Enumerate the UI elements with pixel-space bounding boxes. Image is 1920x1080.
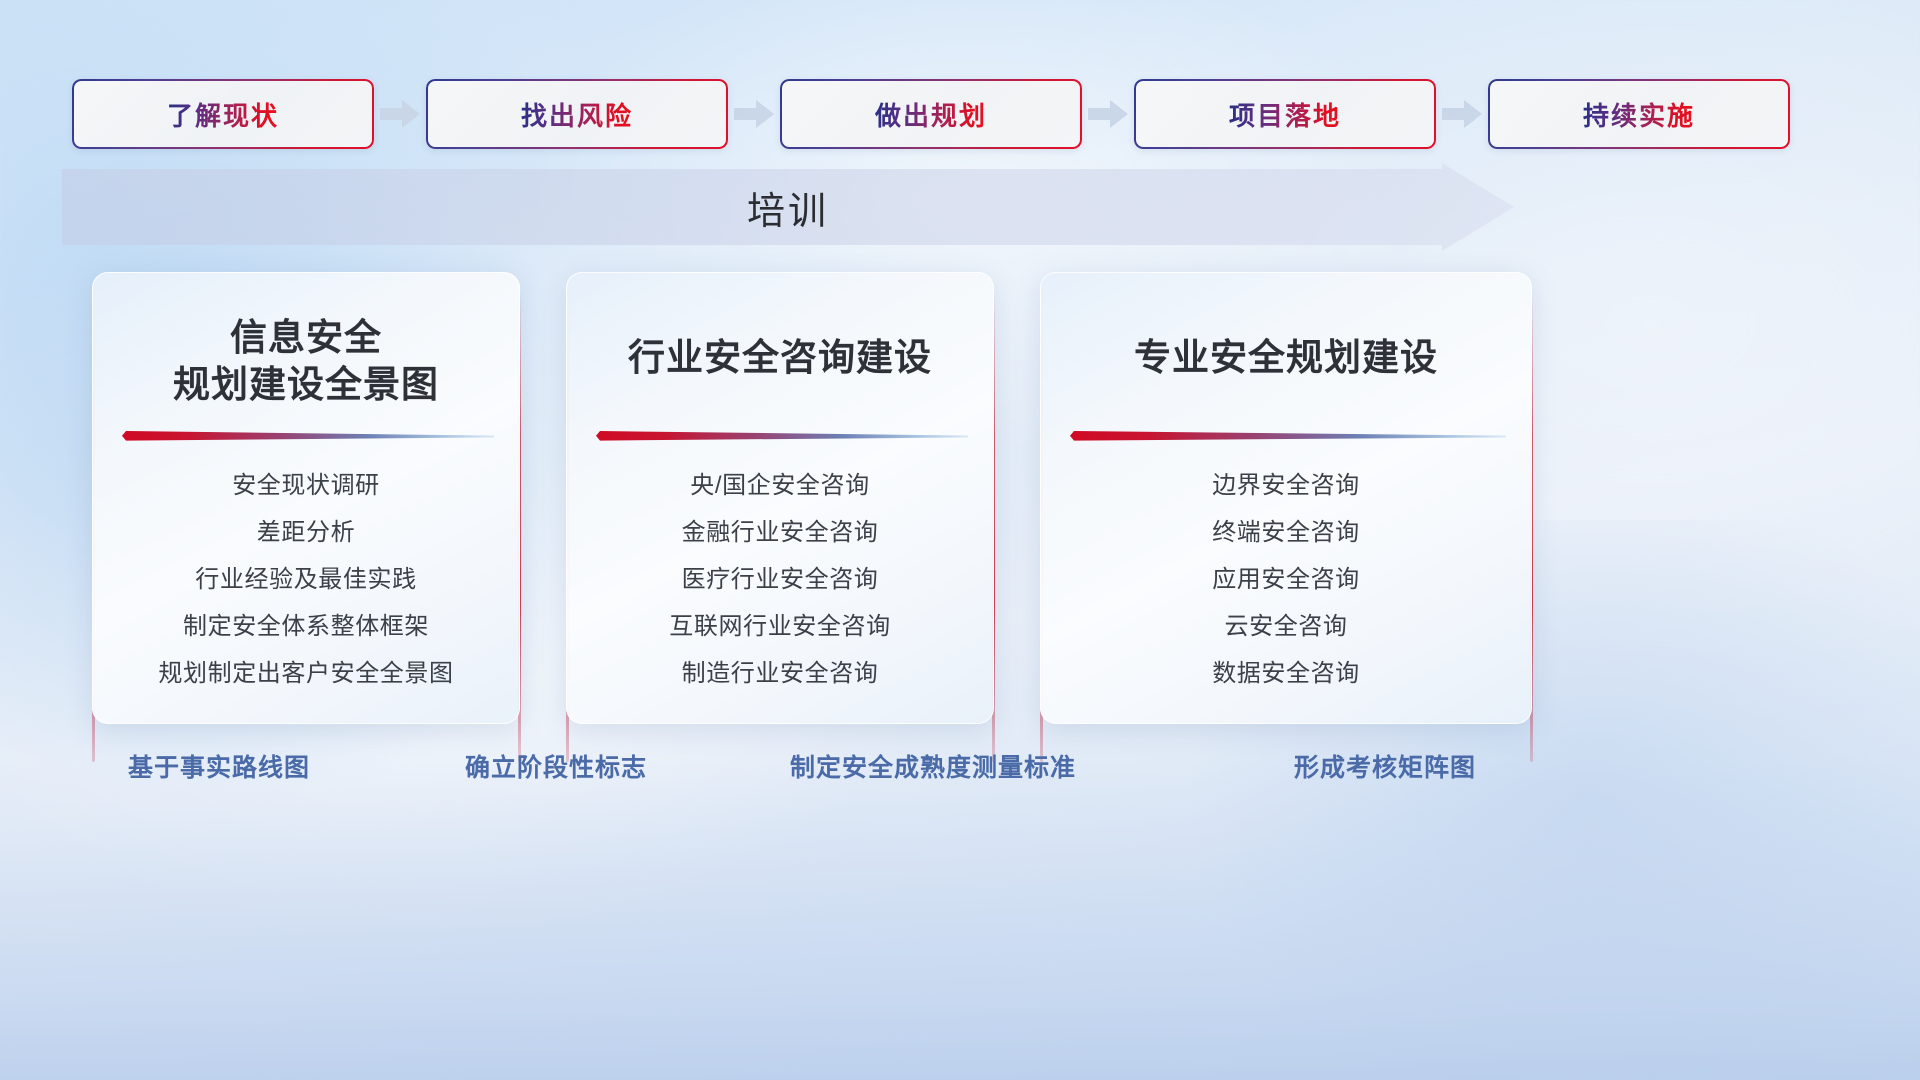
card-title: 专业安全规划建设 xyxy=(1040,334,1532,381)
list-item: 安全现状调研 xyxy=(232,468,380,504)
card-title-line: 专业安全规划建设 xyxy=(1040,334,1532,381)
step-label: 了解现状 xyxy=(167,96,279,133)
step-label: 项目落地 xyxy=(1229,96,1341,133)
background-wash-bottom xyxy=(0,760,1920,1080)
list-item: 互联网行业安全咨询 xyxy=(669,609,890,645)
card-information-security-blueprint[interactable]: 信息安全 规划建设全景图 安全现状调研 差 xyxy=(92,272,520,724)
gradient-divider xyxy=(1070,427,1506,443)
card-title-line: 行业安全咨询建设 xyxy=(566,334,994,381)
gradient-divider xyxy=(596,427,968,443)
list-item: 应用安全咨询 xyxy=(1212,562,1360,598)
step-label: 做出规划 xyxy=(875,96,987,133)
list-item: 数据安全咨询 xyxy=(1212,656,1360,692)
bottom-label-roadmap: 基于事实路线图 xyxy=(128,748,310,784)
card-title-line: 信息安全 xyxy=(92,314,520,361)
list-item: 行业经验及最佳实践 xyxy=(195,562,416,598)
arrow-right-icon xyxy=(1082,79,1134,149)
list-item: 规划制定出客户安全全景图 xyxy=(158,656,453,692)
bottom-labels-row: 基于事实路线图 确立阶段性标志 制定安全成熟度测量标准 形成考核矩阵图 xyxy=(0,748,1920,788)
step-card-3[interactable]: 项目落地 xyxy=(1134,79,1436,149)
arrow-right-icon xyxy=(374,79,426,149)
list-item: 边界安全咨询 xyxy=(1212,468,1360,504)
arrow-right-icon xyxy=(1436,79,1488,149)
list-item: 差距分析 xyxy=(257,515,355,551)
list-item: 终端安全咨询 xyxy=(1212,515,1360,551)
step-label: 找出风险 xyxy=(521,96,633,133)
step-card-0[interactable]: 了解现状 xyxy=(72,79,374,149)
arrow-right-icon xyxy=(728,79,780,149)
card-professional-security-planning[interactable]: 专业安全规划建设 边界安全咨询 终端安全咨询 xyxy=(1040,272,1532,724)
card-title: 信息安全 规划建设全景图 xyxy=(92,314,520,409)
bottom-label-milestones: 确立阶段性标志 xyxy=(465,748,647,784)
card-title-line: 规划建设全景图 xyxy=(92,361,520,408)
step-card-2[interactable]: 做出规划 xyxy=(780,79,1082,149)
process-steps-row: 了解现状 找出风险 做出规划 项目落地 持续实施 xyxy=(0,79,1920,149)
list-item: 云安全咨询 xyxy=(1225,609,1348,645)
card-item-list: 央/国企安全咨询 金融行业安全咨询 医疗行业安全咨询 互联网行业安全咨询 制造行… xyxy=(566,468,994,692)
step-card-4[interactable]: 持续实施 xyxy=(1488,79,1790,149)
step-card-1[interactable]: 找出风险 xyxy=(426,79,728,149)
list-item: 医疗行业安全咨询 xyxy=(682,562,879,598)
list-item: 制定安全体系整体框架 xyxy=(183,609,429,645)
card-title: 行业安全咨询建设 xyxy=(566,334,994,381)
list-item: 央/国企安全咨询 xyxy=(690,468,869,504)
list-item: 制造行业安全咨询 xyxy=(682,656,879,692)
card-item-list: 边界安全咨询 终端安全咨询 应用安全咨询 云安全咨询 数据安全咨询 xyxy=(1040,468,1532,692)
card-item-list: 安全现状调研 差距分析 行业经验及最佳实践 制定安全体系整体框架 规划制定出客户… xyxy=(92,468,520,692)
cards-row: 信息安全 规划建设全景图 安全现状调研 差 xyxy=(0,272,1920,724)
list-item: 金融行业安全咨询 xyxy=(682,515,879,551)
step-label: 持续实施 xyxy=(1583,96,1695,133)
training-banner: 培训 xyxy=(62,163,1514,251)
training-banner-label: 培训 xyxy=(747,180,829,235)
bottom-label-assessment-matrix: 形成考核矩阵图 xyxy=(1294,748,1476,784)
gradient-divider xyxy=(122,427,494,443)
bottom-label-maturity-standard: 制定安全成熟度测量标准 xyxy=(790,748,1076,784)
card-industry-security-consulting[interactable]: 行业安全咨询建设 央/国企安全咨询 金融行业安全咨询 xyxy=(566,272,994,724)
